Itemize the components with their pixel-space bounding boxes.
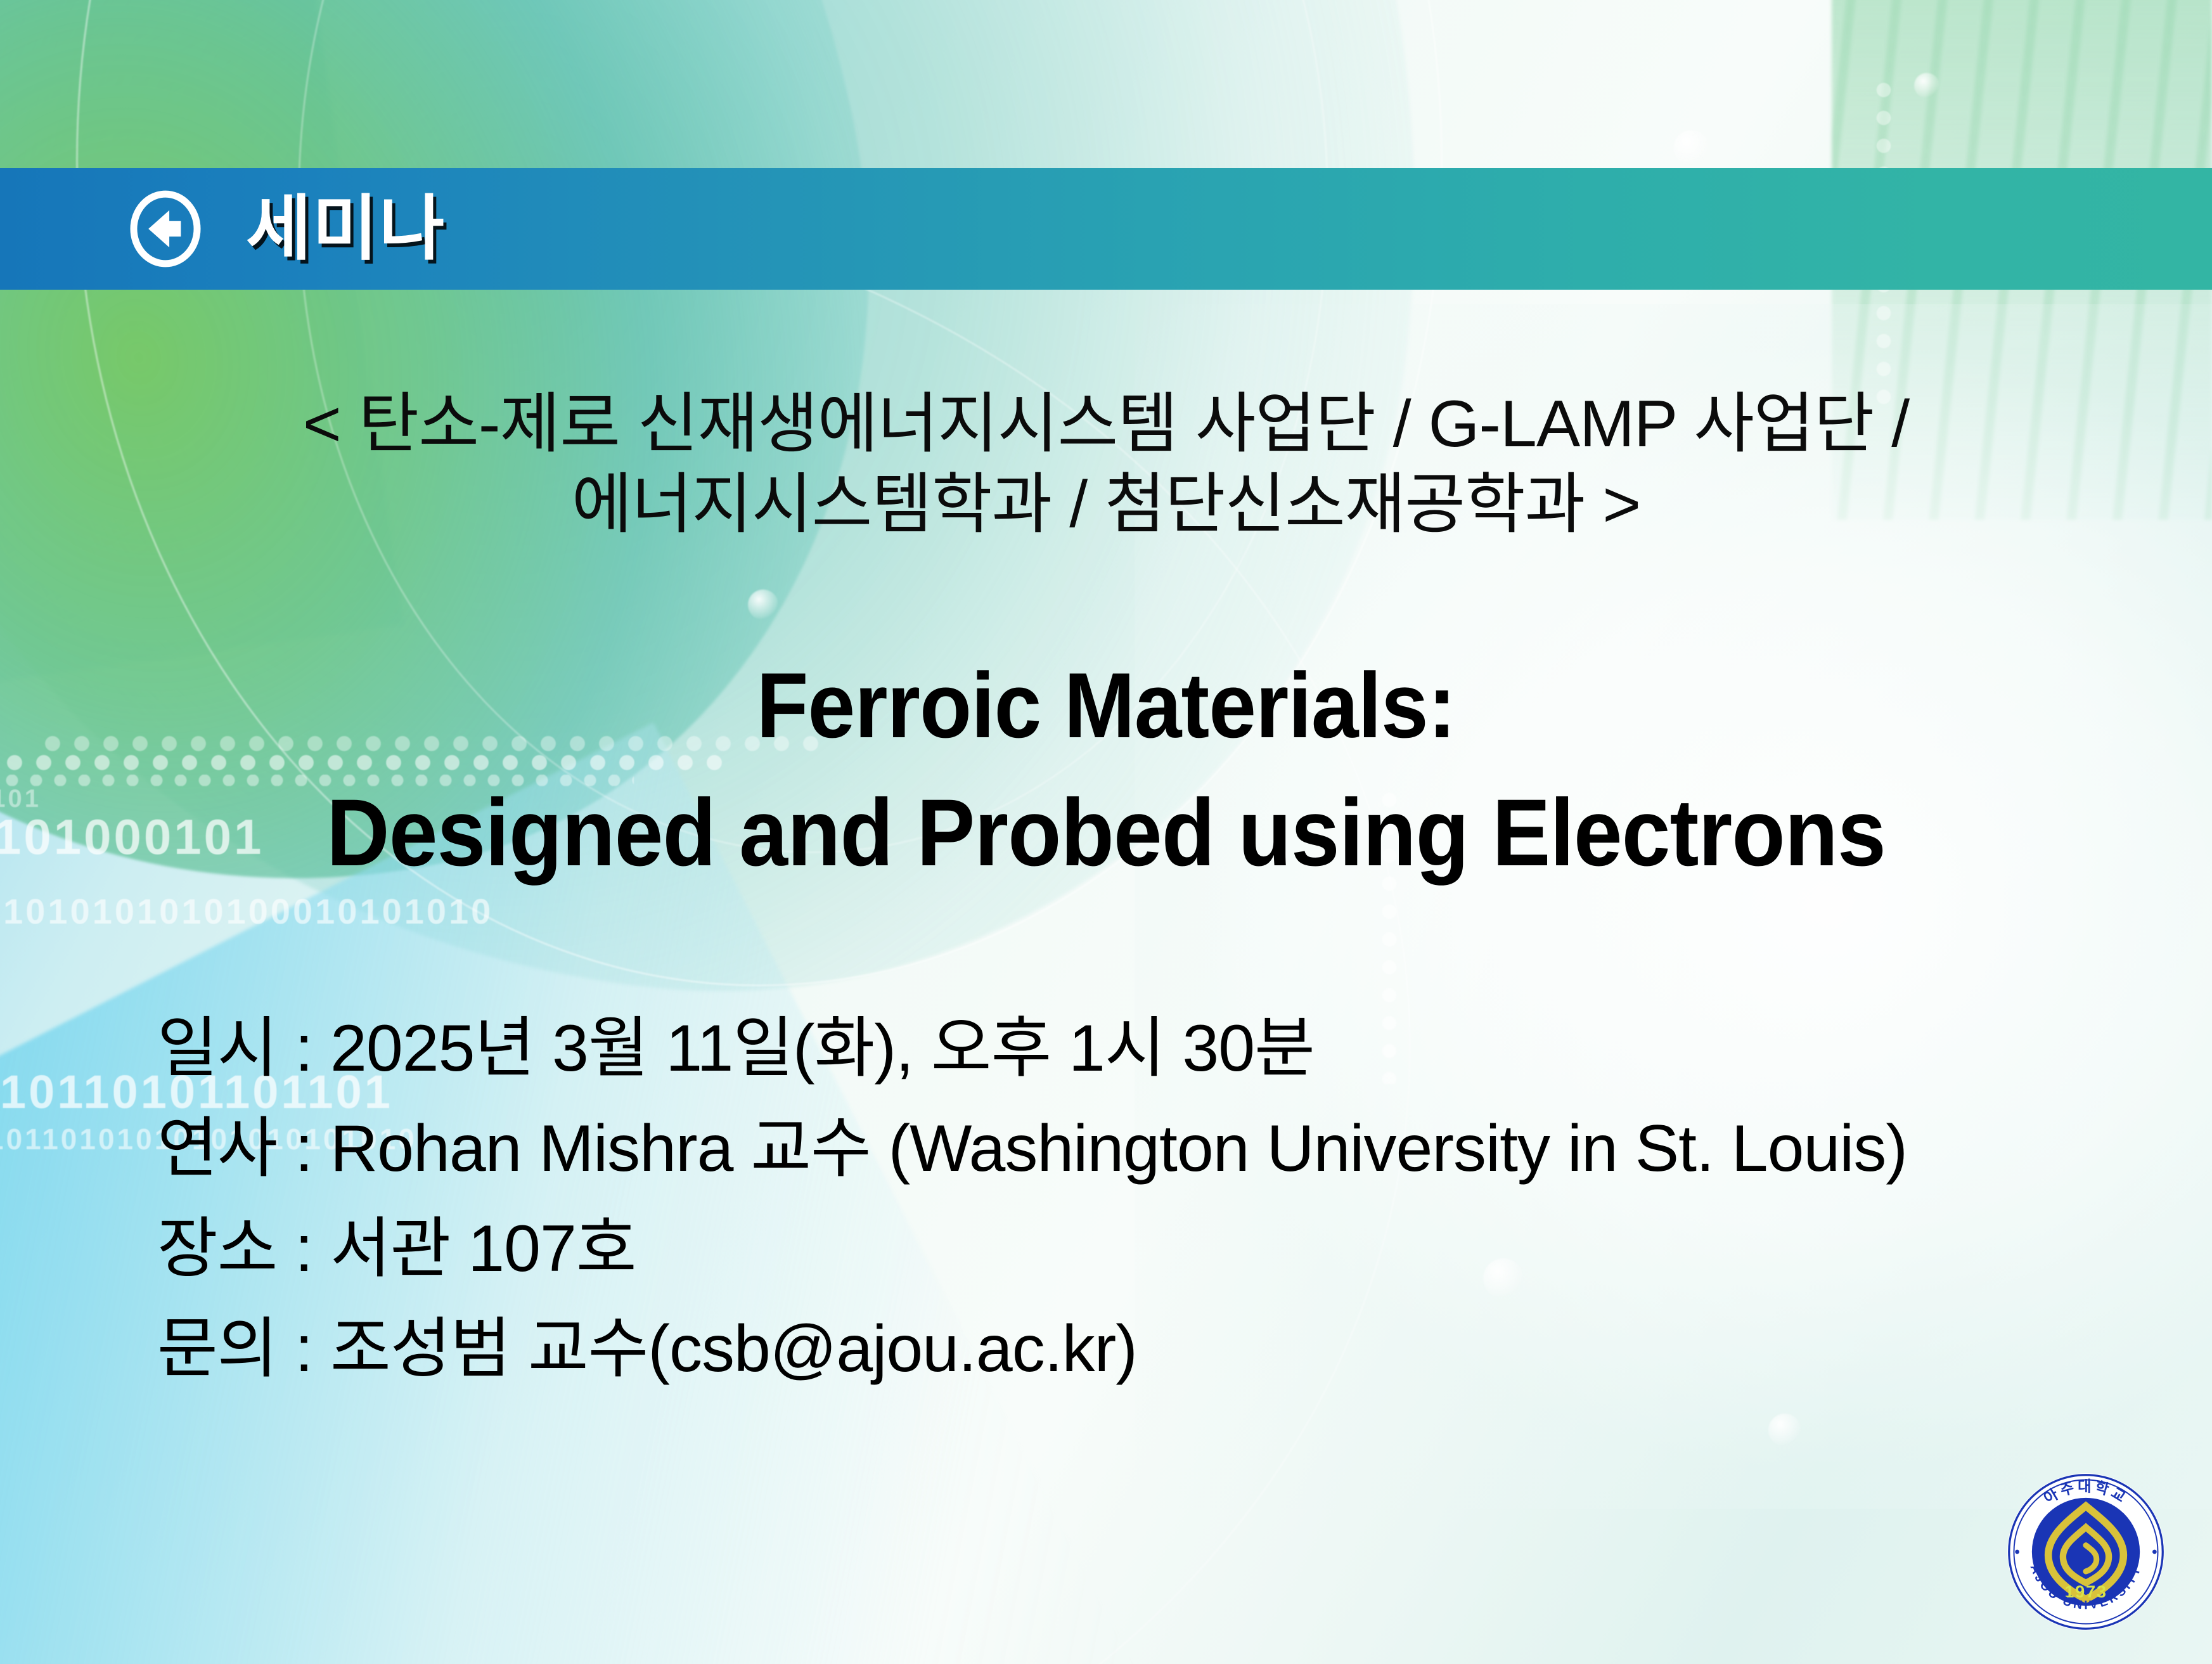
detail-venue: 장소 : 서관 107호 <box>157 1199 2122 1299</box>
seminar-details: 일시 : 2025년 3월 11일(화), 오후 1시 30분 연사 : Roh… <box>157 998 2122 1399</box>
poster-content: < 탄소-제로 신재생에너지시스템 사업단 / G-LAMP 사업단 / 에너지… <box>0 290 2212 1664</box>
organizer-line-2: 에너지시스템학과 / 첨단신소재공학과 > <box>0 464 2212 546</box>
detail-datetime: 일시 : 2025년 3월 11일(화), 오후 1시 30분 <box>157 998 2122 1099</box>
background-bokeh-dot <box>1673 130 1710 167</box>
organizer-line-1: < 탄소-제로 신재생에너지시스템 사업단 / G-LAMP 사업단 / <box>0 384 2212 465</box>
talk-title-line-1: Ferroic Materials: <box>89 651 2124 760</box>
ajou-university-logo: 1973 아주대학교 AJOU UNIVERSITY <box>2004 1470 2168 1634</box>
seminar-header-bar: 세미나 <box>0 168 2212 290</box>
detail-speaker: 연사 : Rohan Mishra 교수 (Washington Univers… <box>157 1099 2122 1199</box>
back-arrow-circle-icon[interactable] <box>127 190 204 268</box>
talk-title-line-2: Designed and Probed using Electrons <box>89 777 2124 889</box>
header-title: 세미나 <box>246 193 446 264</box>
detail-contact: 문의 : 조성범 교수(csb@ajou.ac.kr) <box>157 1299 2122 1399</box>
background-bokeh-dot <box>1914 73 1939 98</box>
seminar-poster: 0101 101000101 01010101010100010101010 1… <box>0 0 2212 1664</box>
